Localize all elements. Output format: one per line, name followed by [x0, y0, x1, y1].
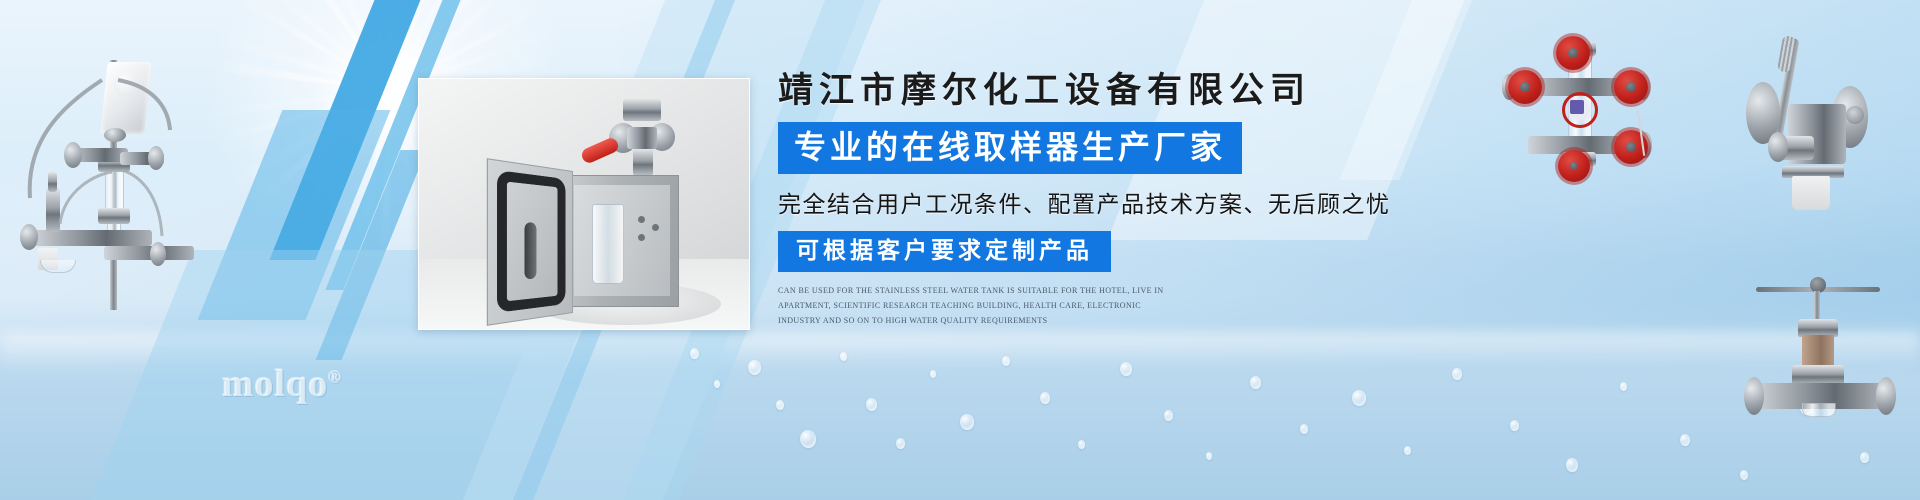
watermark-text: molqo [222, 363, 328, 405]
subheadline: 完全结合用户工况条件、配置产品技术方案、无后顾之忧 [778, 185, 1398, 219]
headline-text-block: 靖江市摩尔化工设备有限公司 专业的在线取样器生产厂家 完全结合用户工况条件、配置… [778, 70, 1398, 328]
watermark-logo: molqo® [222, 362, 342, 406]
headline-highlight: 专业的在线取样器生产厂家 [778, 122, 1242, 174]
product-photo [418, 78, 750, 330]
cta-highlight: 可根据客户要求定制产品 [778, 231, 1111, 272]
tubing-icon [0, 20, 220, 310]
company-name: 靖江市摩尔化工设备有限公司 [778, 70, 1398, 112]
cta-row: 可根据客户要求定制产品 [778, 231, 1398, 272]
english-description: CAN BE USED FOR THE STAINLESS STEEL WATE… [778, 284, 1178, 328]
registered-mark-icon: ® [328, 367, 342, 386]
right-top-equipment-image [1480, 20, 1710, 180]
headline-row: 专业的在线取样器生产厂家 [778, 122, 1398, 174]
right-bottom-equipment-image [1740, 225, 1920, 415]
promo-banner: 靖江市摩尔化工设备有限公司 专业的在线取样器生产厂家 完全结合用户工况条件、配置… [0, 0, 1920, 500]
left-equipment-image [0, 20, 220, 310]
right-upper-equipment-image [1700, 20, 1920, 220]
